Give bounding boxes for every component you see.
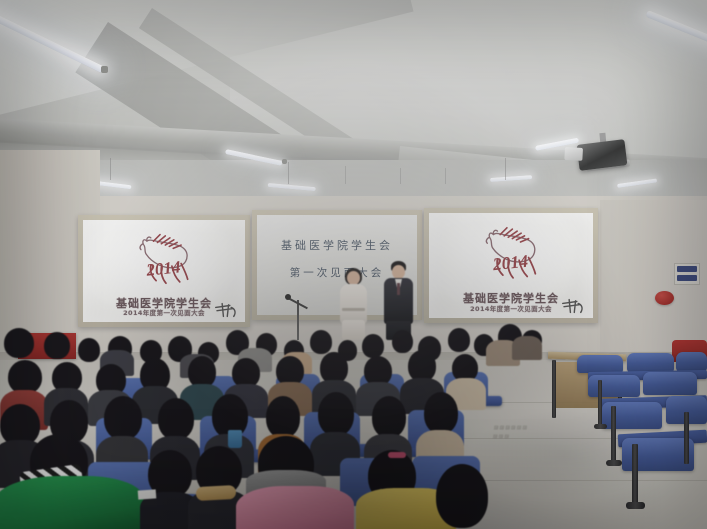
notice-sign (674, 263, 700, 285)
notice-sign-bar-1 (677, 266, 697, 272)
audience-head (78, 338, 100, 362)
audience-head (4, 328, 34, 358)
hair-tie-pink (388, 452, 406, 458)
audience-head (266, 396, 300, 438)
female-presenter-head (347, 271, 360, 285)
male-presenter-tie (397, 283, 400, 295)
light-hanger-rod-2 (288, 162, 289, 184)
lecture-hall-photo: ▨▨▨▨▨▨▨▨▨ (0, 0, 707, 529)
audience-head (424, 392, 458, 434)
audience-body (512, 336, 542, 360)
audience-head (448, 328, 470, 352)
audience-head (392, 330, 413, 353)
svg-text:2014: 2014 (144, 257, 181, 280)
light-hanger-rod-3 (505, 158, 506, 180)
audience-head (104, 396, 142, 440)
audience-head (372, 396, 406, 438)
light-hanger-rod-5 (400, 168, 401, 184)
audience-head (44, 332, 70, 359)
notice-sign-bar-2 (677, 275, 697, 281)
bread-snack (196, 485, 237, 501)
audience (0, 300, 707, 529)
audience-body-pink (236, 486, 354, 529)
ceiling (0, 0, 707, 215)
audience-body-green (0, 476, 144, 529)
audience-head (318, 392, 354, 436)
horse-logo-right: 2014 (452, 221, 570, 282)
audience-head (362, 334, 384, 358)
drink-cup (228, 430, 242, 448)
male-presenter-head (392, 265, 405, 279)
svg-text:2014: 2014 (491, 251, 529, 275)
light-hanger-rod-1 (110, 158, 111, 180)
audience-head (436, 464, 488, 528)
light-hanger-rod-6 (445, 168, 446, 184)
light-hanger-rod-4 (345, 166, 346, 184)
tube-light-1-cap (101, 66, 108, 73)
tube-light-3-cap (282, 159, 287, 164)
horse-logo-left: 2014 (106, 228, 223, 287)
audience-head (310, 330, 332, 354)
paper-sheet (138, 489, 157, 499)
whiteboard-line-1: 基础医学院学生会 (257, 237, 417, 253)
audience-head (158, 398, 194, 440)
audience-head (8, 360, 42, 394)
